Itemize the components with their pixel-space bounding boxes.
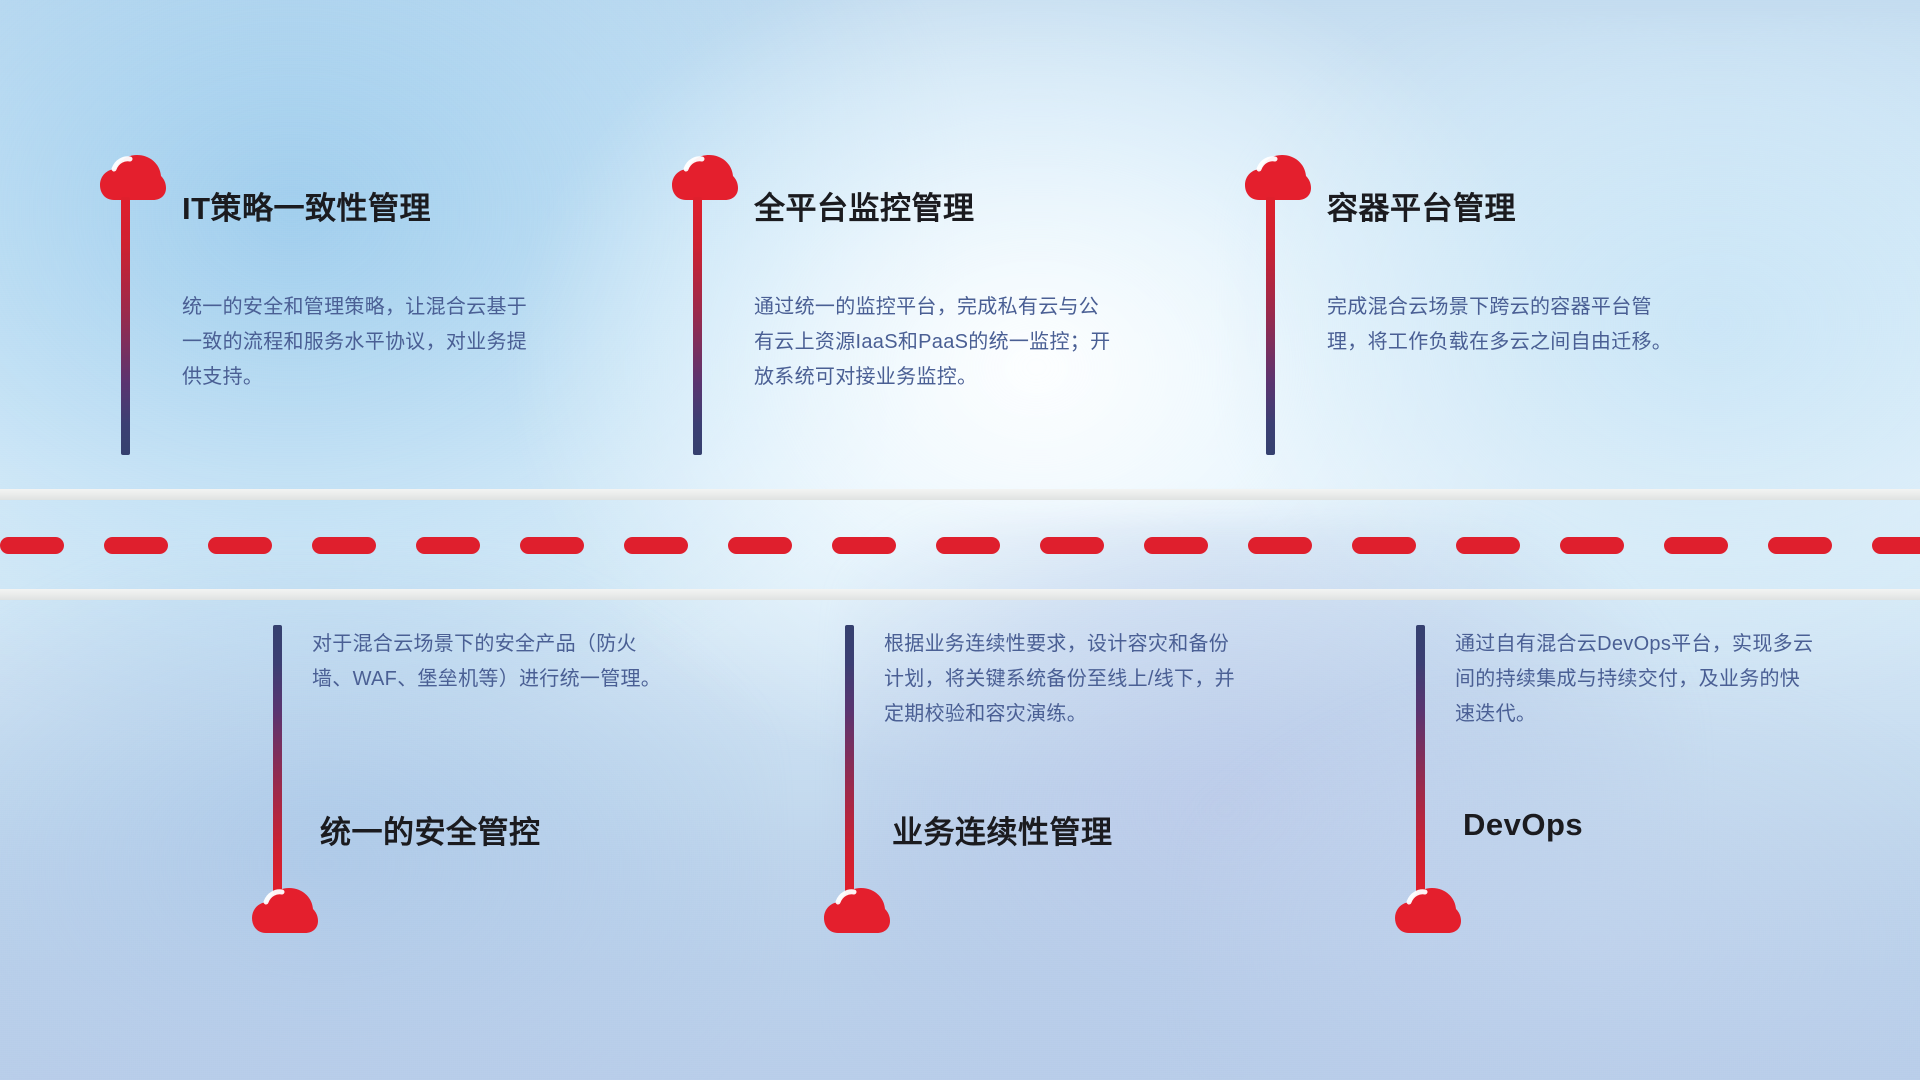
stem-line <box>1266 197 1275 455</box>
road-dash <box>312 537 376 554</box>
cloud-icon <box>824 888 890 934</box>
card-business-continuity-management[interactable]: 根据业务连续性要求，设计容灾和备份计划，将关键系统备份至线上/线下，并定期校验和… <box>824 625 1254 995</box>
stem-line <box>845 625 854 893</box>
road-dash <box>1248 537 1312 554</box>
card-body: 统一的安全和管理策略，让混合云基于一致的流程和服务水平协议，对业务提供支持。 <box>182 290 542 395</box>
stem-line <box>273 625 282 893</box>
marker-bottom-2: 根据业务连续性要求，设计容灾和备份计划，将关键系统备份至线上/线下，并定期校验和… <box>824 625 1254 995</box>
card-body: 通过自有混合云DevOps平台，实现多云间的持续集成与持续交付，及业务的快速迭代… <box>1455 627 1815 732</box>
card-body: 根据业务连续性要求，设计容灾和备份计划，将关键系统备份至线上/线下，并定期校验和… <box>884 627 1244 732</box>
card-full-platform-monitoring[interactable]: 全平台监控管理 通过统一的监控平台，完成私有云与公有云上资源IaaS和PaaS的… <box>672 155 1102 505</box>
road-dash <box>1768 537 1832 554</box>
road-dash <box>1144 537 1208 554</box>
card-title: 全平台监控管理 <box>754 183 975 228</box>
card-it-policy-consistency[interactable]: IT策略一致性管理 统一的安全和管理策略，让混合云基于一致的流程和服务水平协议，… <box>100 155 530 505</box>
road-center-dashes <box>0 537 1920 554</box>
marker-top-3: 容器平台管理 完成混合云场景下跨云的容器平台管理，将工作负载在多云之间自由迁移。 <box>1245 155 1675 505</box>
card-container-platform-management[interactable]: 容器平台管理 完成混合云场景下跨云的容器平台管理，将工作负载在多云之间自由迁移。 <box>1245 155 1675 505</box>
road-dash <box>728 537 792 554</box>
card-title: 业务连续性管理 <box>892 807 1113 852</box>
card-body: 通过统一的监控平台，完成私有云与公有云上资源IaaS和PaaS的统一监控；开放系… <box>754 290 1114 395</box>
road-dash <box>936 537 1000 554</box>
marker-top-1: IT策略一致性管理 统一的安全和管理策略，让混合云基于一致的流程和服务水平协议，… <box>100 155 530 505</box>
card-title: IT策略一致性管理 <box>182 183 431 228</box>
road-dash <box>208 537 272 554</box>
card-body: 对于混合云场景下的安全产品（防火墙、WAF、堡垒机等）进行统一管理。 <box>312 627 672 697</box>
road-dash <box>416 537 480 554</box>
card-unified-security-control[interactable]: 对于混合云场景下的安全产品（防火墙、WAF、堡垒机等）进行统一管理。 统一的安全… <box>252 625 682 995</box>
road-dash <box>104 537 168 554</box>
road-dash <box>1664 537 1728 554</box>
marker-bottom-3: 通过自有混合云DevOps平台，实现多云间的持续集成与持续交付，及业务的快速迭代… <box>1395 625 1825 995</box>
road-dash <box>1352 537 1416 554</box>
marker-bottom-1: 对于混合云场景下的安全产品（防火墙、WAF、堡垒机等）进行统一管理。 统一的安全… <box>252 625 682 995</box>
stem-line <box>693 197 702 455</box>
card-title: DevOps <box>1463 807 1583 843</box>
marker-top-2: 全平台监控管理 通过统一的监控平台，完成私有云与公有云上资源IaaS和PaaS的… <box>672 155 1102 505</box>
road-dash <box>832 537 896 554</box>
stem-line <box>121 197 130 455</box>
road-dash <box>1040 537 1104 554</box>
stem-line <box>1416 625 1425 893</box>
road-dash <box>0 537 64 554</box>
road-dash <box>1560 537 1624 554</box>
road-dash <box>624 537 688 554</box>
road-dash <box>1872 537 1920 554</box>
card-devops[interactable]: 通过自有混合云DevOps平台，实现多云间的持续集成与持续交付，及业务的快速迭代… <box>1395 625 1825 995</box>
road-dash <box>1456 537 1520 554</box>
cloud-icon <box>252 888 318 934</box>
cloud-icon <box>672 155 738 201</box>
card-title: 统一的安全管控 <box>320 807 541 852</box>
cloud-icon <box>1245 155 1311 201</box>
cloud-icon <box>100 155 166 201</box>
road-dash <box>520 537 584 554</box>
card-body: 完成混合云场景下跨云的容器平台管理，将工作负载在多云之间自由迁移。 <box>1327 290 1687 360</box>
cloud-icon <box>1395 888 1461 934</box>
card-title: 容器平台管理 <box>1327 183 1516 228</box>
road-edge-bottom <box>0 589 1920 600</box>
infographic-canvas: IT策略一致性管理 统一的安全和管理策略，让混合云基于一致的流程和服务水平协议，… <box>0 0 1920 1080</box>
